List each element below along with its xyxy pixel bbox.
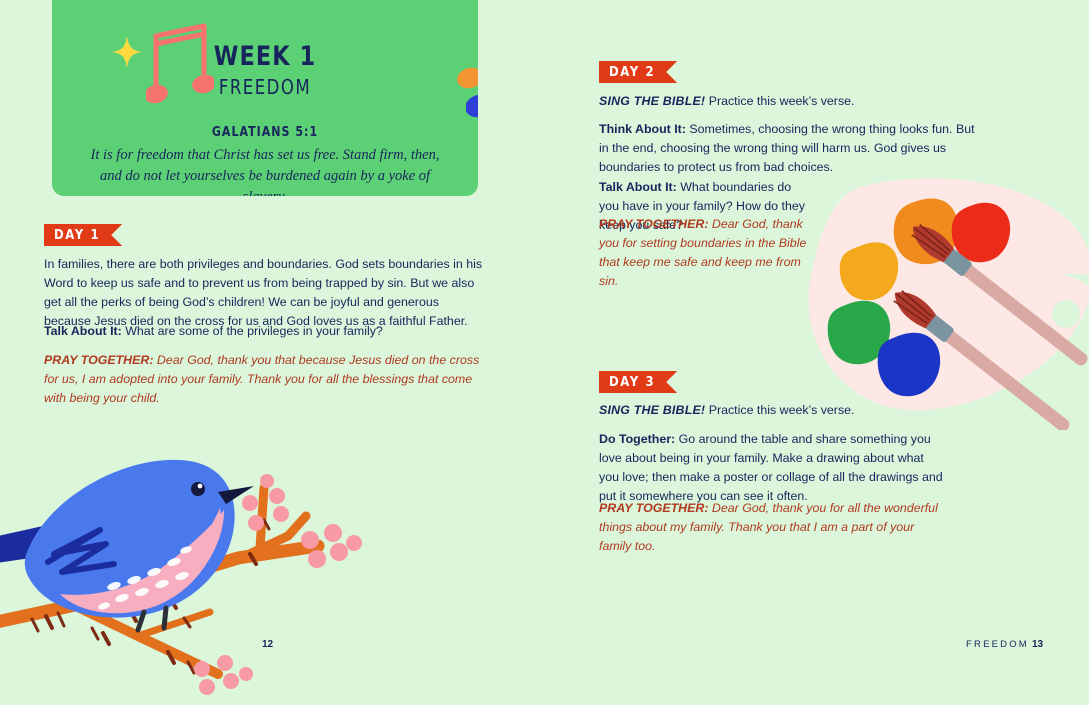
day1-body: In families, there are both privileges a… (44, 255, 484, 330)
day1-pray-label: PRAY TOGETHER: (44, 353, 153, 367)
right-page-number: 13 (1032, 639, 1043, 650)
day1-talk-text: What are some of the privileges in your … (122, 324, 383, 338)
right-page-label: FREEDOM (966, 639, 1029, 650)
day3-sing: SING THE BIBLE! Practice this week’s ver… (599, 401, 999, 420)
day2-think: Think About It: Sometimes, choosing the … (599, 120, 987, 177)
day3-badge: DAY 3 (599, 371, 677, 393)
day2-sing-label: SING THE BIBLE! (599, 94, 705, 108)
bluebird-on-branch-illustration (0, 430, 388, 705)
day1-pray: PRAY TOGETHER: Dear God, thank you that … (44, 351, 484, 408)
day1-badge-label: DAY 1 (54, 228, 100, 243)
day3-sing-text: Practice this week’s verse. (705, 403, 854, 417)
week-header-card: WEEK 1 FREEDOM GALATIANS 5:1 It is for f… (52, 0, 478, 196)
verse-text: It is for freedom that Christ has set us… (85, 145, 445, 196)
day2-badge-label: DAY 2 (609, 65, 655, 80)
verse-reference: GALATIANS 5:1 (65, 125, 465, 140)
day3-pray: PRAY TOGETHER: Dear God, thank you for a… (599, 499, 944, 556)
day1-talk-label: Talk About It: (44, 324, 122, 338)
day2-pray-label: PRAY TOGETHER: (599, 217, 708, 231)
day1-badge: DAY 1 (44, 224, 122, 246)
day3-pray-label: PRAY TOGETHER: (599, 501, 708, 515)
week-subtitle: FREEDOM (69, 75, 461, 99)
day2-sing-text: Practice this week’s verse. (705, 94, 854, 108)
day3-sing-label: SING THE BIBLE! (599, 403, 705, 417)
day3-do: Do Together: Go around the table and sha… (599, 430, 947, 505)
day3-do-label: Do Together: (599, 432, 675, 446)
left-page-number: 12 (262, 639, 273, 650)
day2-talk-label: Talk About It: (599, 180, 677, 194)
paint-palette-with-brushes-illustration (798, 178, 1089, 435)
week-title: WEEK 1 (69, 42, 461, 72)
day2-pray: PRAY TOGETHER: Dear God, thank you for s… (599, 215, 817, 290)
day2-badge: DAY 2 (599, 61, 677, 83)
day2-sing: SING THE BIBLE! Practice this week’s ver… (599, 92, 999, 111)
spread-page: WEEK 1 FREEDOM GALATIANS 5:1 It is for f… (0, 0, 1089, 700)
day2-think-label: Think About It: (599, 122, 686, 136)
day1-talk: Talk About It: What are some of the priv… (44, 322, 484, 341)
day3-badge-label: DAY 3 (609, 375, 655, 390)
